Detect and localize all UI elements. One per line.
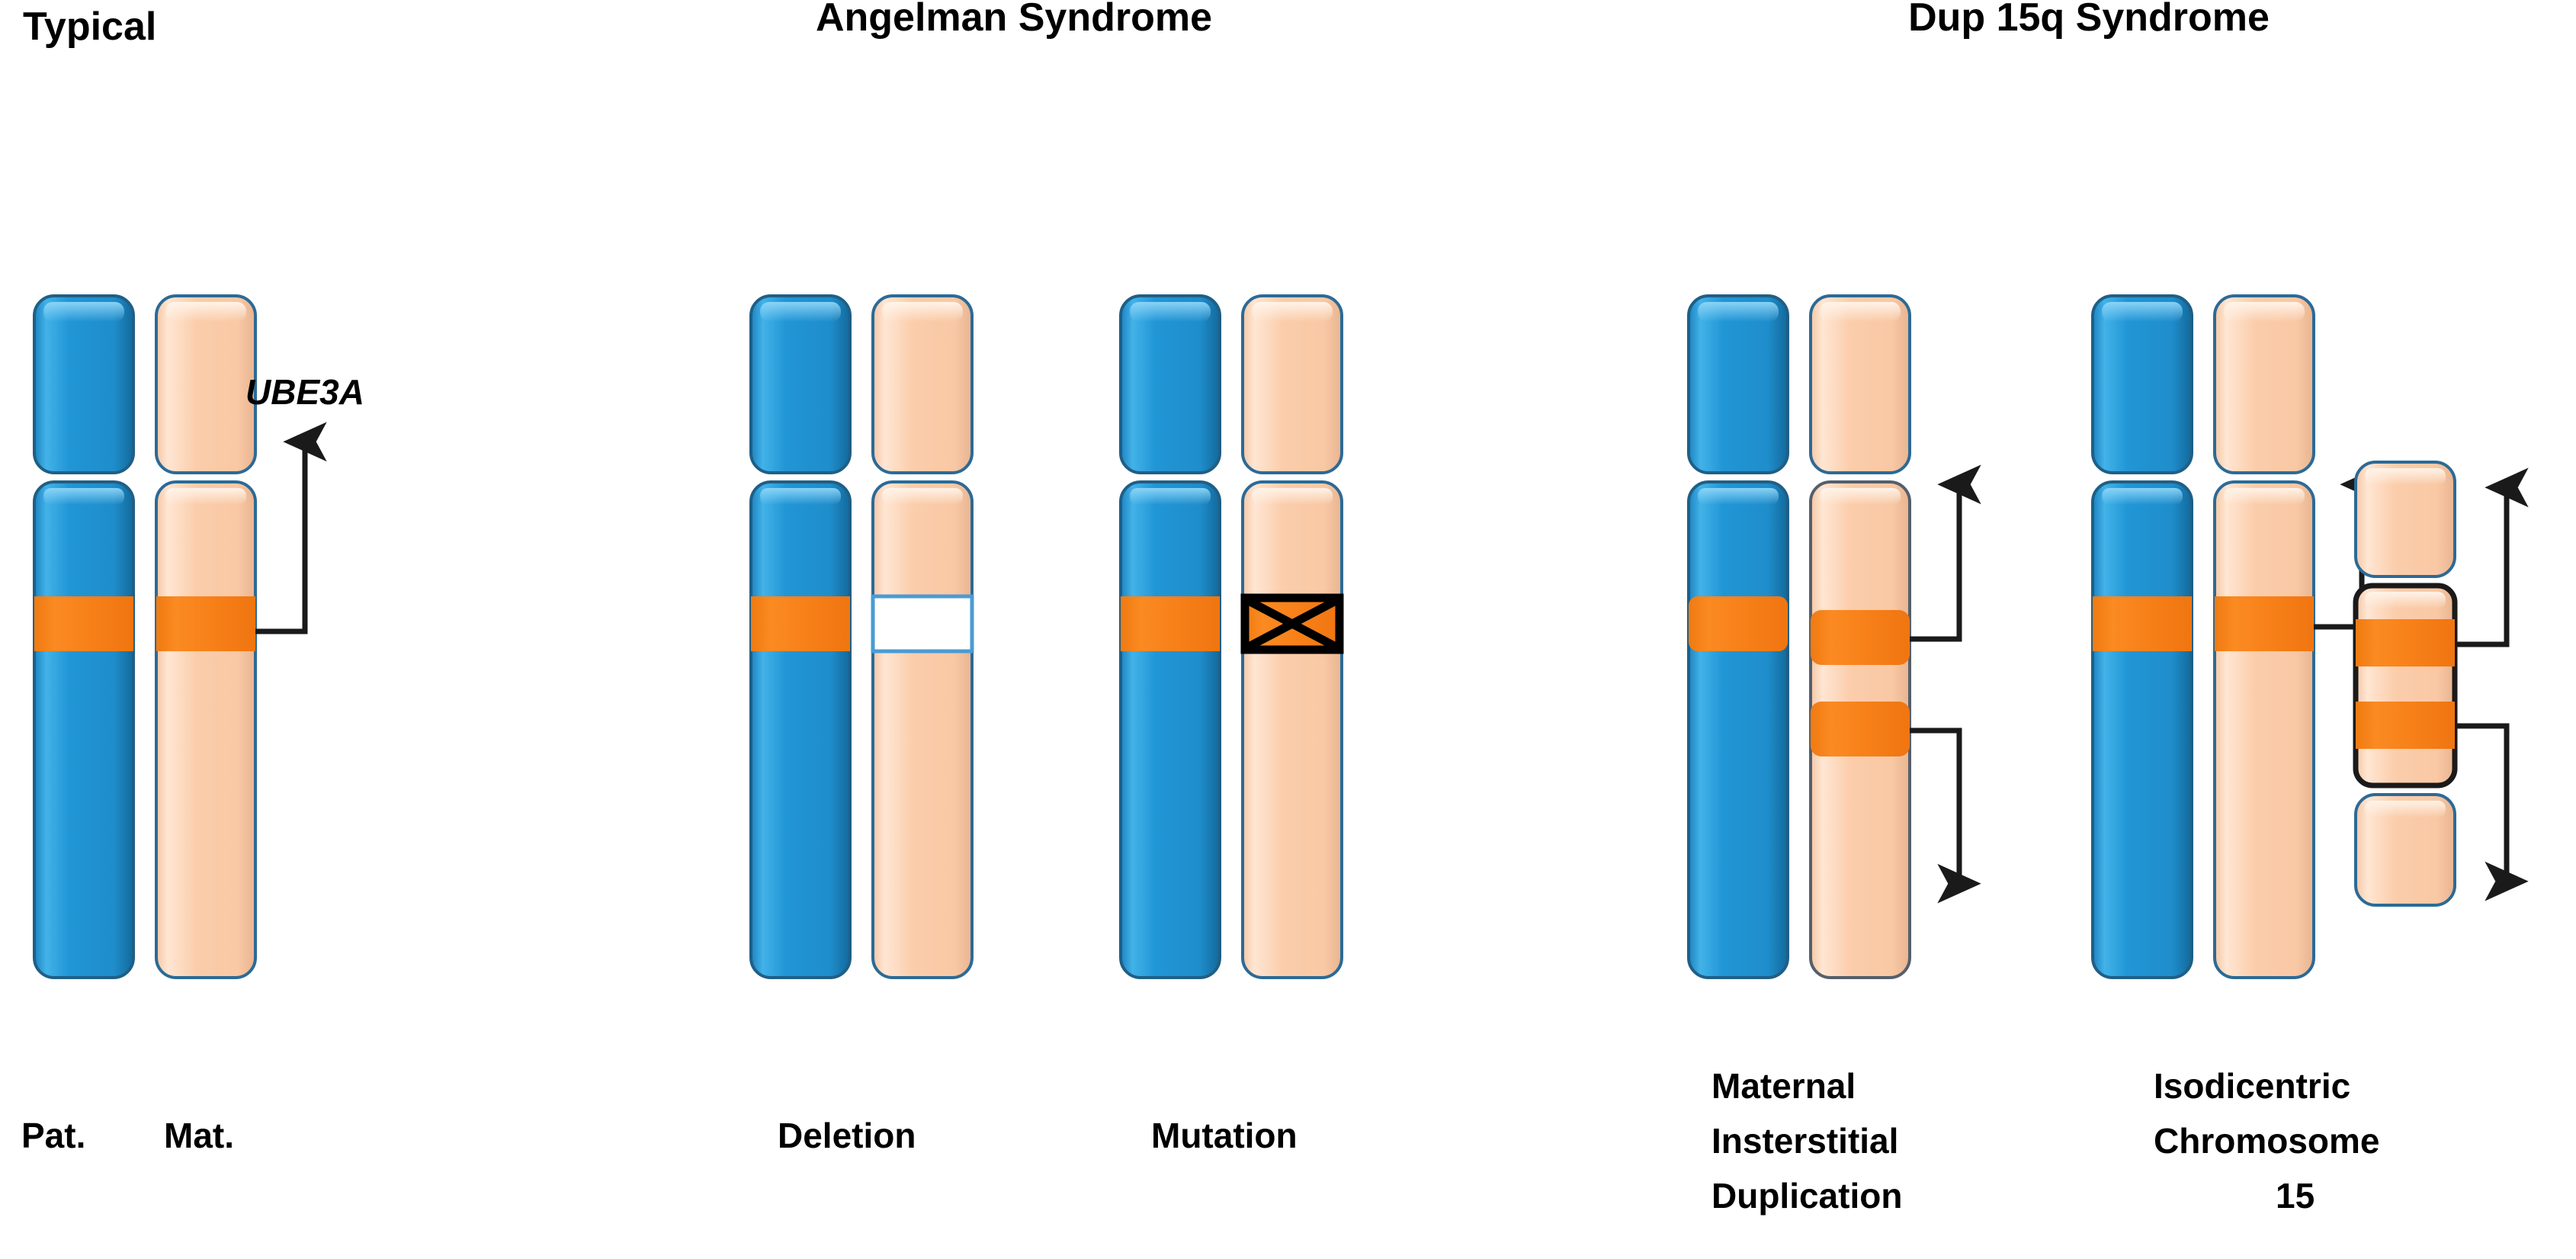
ube3a-band: [34, 596, 133, 651]
column-label-isodicentric-line2: Chromosome: [2154, 1121, 2379, 1161]
chromosome-q-arm: [1243, 482, 1342, 978]
p-arm-sheen: [43, 302, 124, 322]
chromosome-p-arm: [1121, 296, 1220, 473]
q-arm-sheen: [1820, 488, 1901, 505]
ube3a-band-copy-2: [2356, 702, 2455, 749]
chromosome-q-arm: [1121, 482, 1220, 978]
column-label-mutation: Mutation: [1151, 1116, 1298, 1155]
p-arm-sheen: [760, 302, 841, 322]
isodicentric-marker-chromosome: [2356, 462, 2455, 905]
chromosome-q-arm: [1689, 482, 1788, 978]
chromosome-q-arm: [2093, 482, 2192, 978]
column-label-deletion: Deletion: [778, 1116, 916, 1155]
q-arm-sheen: [165, 488, 246, 505]
ube3a-band-copy-1: [2356, 619, 2455, 666]
marker-cap-top-sheen: [2365, 468, 2446, 485]
chromosome-p-arm: [873, 296, 972, 473]
column-label-isodicentric-line3: 15: [2276, 1176, 2315, 1216]
dup15q-interstitial-maternal-chromosome: [1811, 296, 1910, 978]
chromosome-q-arm: [34, 482, 133, 978]
chromosome-q-arm: [2215, 482, 2314, 978]
column-label-maternal-interstitial-line2: Insterstitial: [1711, 1121, 1898, 1161]
ube3a-callout-arrow: [255, 442, 305, 631]
ube3a-band: [2093, 596, 2192, 651]
section-title-typical: Typical: [23, 5, 156, 49]
column-label-paternal: Pat.: [21, 1116, 85, 1155]
typical-paternal-chromosome: [34, 296, 133, 978]
column-label-maternal: Mat.: [164, 1116, 234, 1155]
column-label-maternal-interstitial-line3: Duplication: [1711, 1176, 1902, 1216]
ube3a-band: [751, 596, 850, 651]
dup15q-isodicentric-paternal-chromosome: [2093, 296, 2192, 978]
chromosome-p-arm: [1243, 296, 1342, 473]
q-arm-sheen: [1698, 488, 1779, 505]
duplication-copy1-arrow: [1910, 485, 1959, 639]
dup15q-isodicentric-maternal-chromosome: [2215, 296, 2314, 978]
ube3a-band: [156, 596, 255, 651]
p-arm-sheen: [1820, 302, 1901, 322]
dup15q-interstitial-paternal-chromosome: [1689, 296, 1788, 978]
q-arm-sheen: [1130, 488, 1211, 505]
p-arm-sheen: [1130, 302, 1211, 322]
typical-maternal-chromosome: [156, 296, 255, 978]
ube3a-band: [1121, 596, 1220, 651]
p-arm-sheen: [165, 302, 246, 322]
column-label-isodicentric-line1: Isodicentric: [2154, 1066, 2350, 1106]
chromosome-diagram: Typical Angelman Syndrome Dup 15q Syndro…: [0, 0, 2576, 1259]
section-title-angelman: Angelman Syndrome: [816, 0, 1212, 40]
marker-body: [2356, 586, 2455, 785]
ube3a-band: [1689, 596, 1788, 651]
ube3a-band-copy-2: [1811, 702, 1910, 756]
chromosome-q-arm: [751, 482, 850, 978]
ube3a-band: [2215, 596, 2314, 651]
marker-body-sheen: [2365, 592, 2446, 609]
column-label-maternal-interstitial-line1: Maternal: [1711, 1066, 1856, 1106]
q-arm-sheen: [43, 488, 124, 505]
diagram-canvas: Typical Angelman Syndrome Dup 15q Syndro…: [0, 0, 2576, 1259]
chromosome-p-arm: [2215, 296, 2314, 473]
p-arm-sheen: [2224, 302, 2305, 322]
chromosome-p-arm: [2093, 296, 2192, 473]
p-arm-sheen: [2102, 302, 2183, 322]
p-arm-sheen: [882, 302, 963, 322]
gene-label-ube3a: UBE3A: [245, 372, 364, 412]
duplication-copy2-arrow: [1910, 731, 1959, 883]
q-arm-sheen: [2224, 488, 2305, 505]
chromosome-p-arm: [751, 296, 850, 473]
chromosome-p-arm: [34, 296, 133, 473]
q-arm-sheen: [2102, 488, 2183, 505]
q-arm-sheen: [882, 488, 963, 505]
isodicentric-copy2-arrow: [2455, 726, 2507, 881]
q-arm-sheen: [1252, 488, 1333, 505]
deleted-band: [873, 596, 972, 651]
chromosome-p-arm: [156, 296, 255, 473]
angelman-deletion-paternal-chromosome: [751, 296, 850, 978]
isodicentric-copy1-arrow: [2455, 488, 2507, 644]
section-title-dup15q: Dup 15q Syndrome: [1908, 0, 2270, 40]
p-arm-sheen: [1252, 302, 1333, 322]
ube3a-band-copy-1: [1811, 610, 1910, 665]
p-arm-sheen: [1698, 302, 1779, 322]
chromosome-q-arm: [156, 482, 255, 978]
chromosome-p-arm: [1811, 296, 1910, 473]
angelman-deletion-maternal-chromosome: [873, 296, 972, 978]
angelman-mutation-paternal-chromosome: [1121, 296, 1220, 978]
chromosome-q-arm: [873, 482, 972, 978]
chromosome-p-arm: [1689, 296, 1788, 473]
q-arm-sheen: [760, 488, 841, 505]
angelman-mutation-maternal-chromosome: [1243, 296, 1342, 978]
marker-cap-bottom-sheen: [2365, 801, 2446, 817]
